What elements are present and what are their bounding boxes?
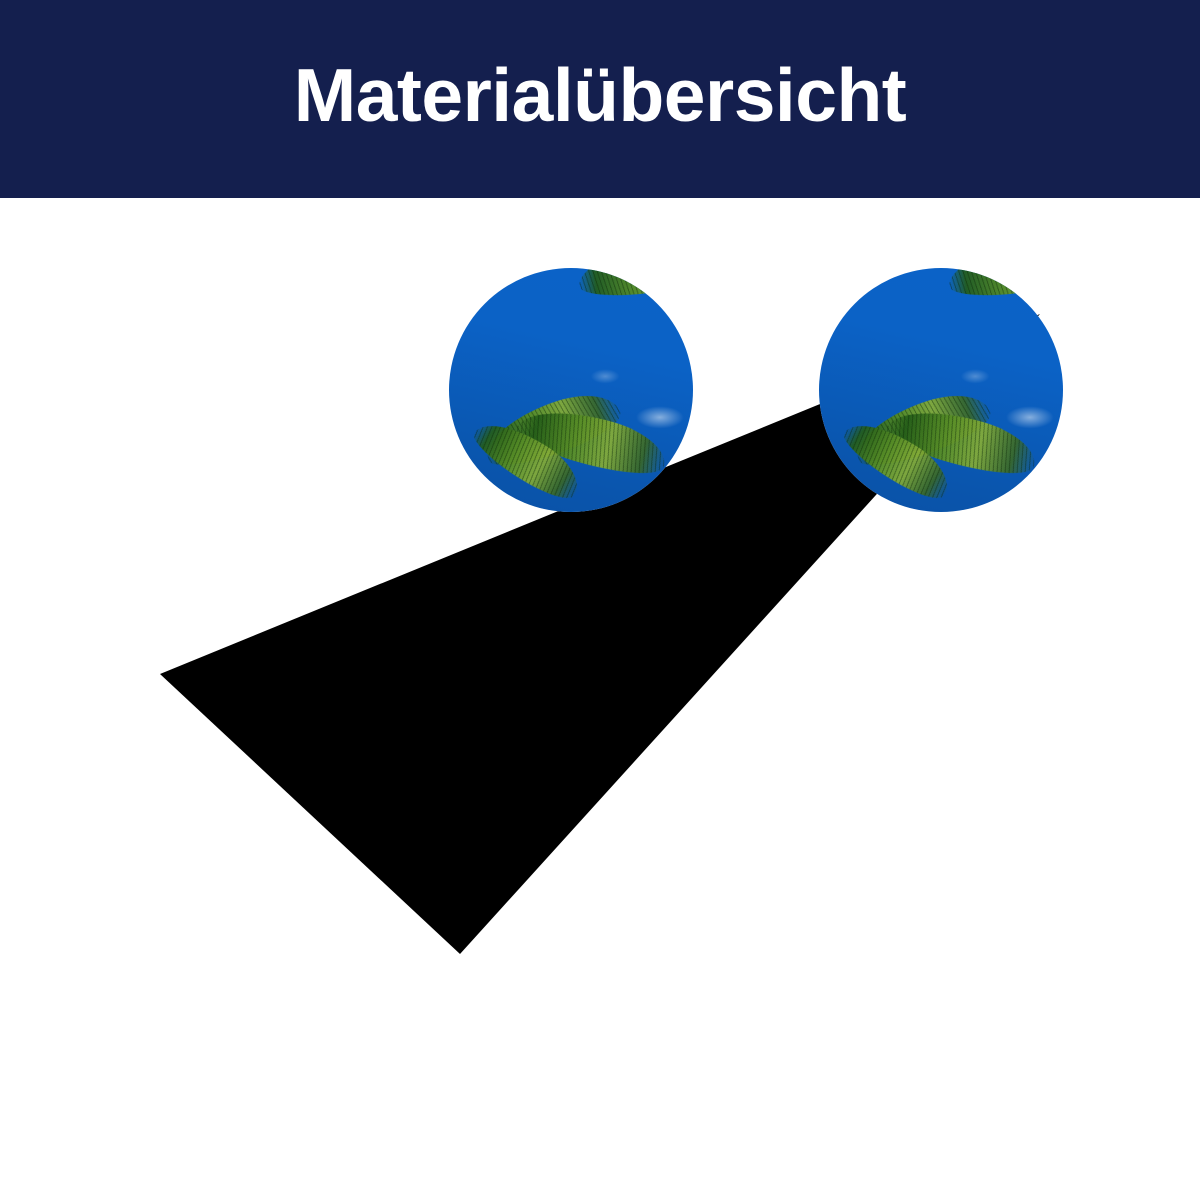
alu-verbund-sample-image	[819, 268, 1063, 512]
acrylglas-sample-image	[449, 268, 693, 512]
page-header: Materialübersicht	[0, 0, 1200, 198]
check-icon	[0, 54, 1200, 1200]
material-overview-page: Materialübersicht	[0, 0, 1200, 1200]
cell-acrylglas-bearbeitung	[0, 54, 1200, 1200]
page-title: Materialübersicht	[0, 0, 1200, 198]
palm-tree-photo	[819, 268, 1063, 512]
table-row: Bearbeitung mit Stichsäge	[0, 36, 1200, 1200]
palm-tree-photo	[449, 268, 693, 512]
material-samples	[0, 268, 1200, 516]
